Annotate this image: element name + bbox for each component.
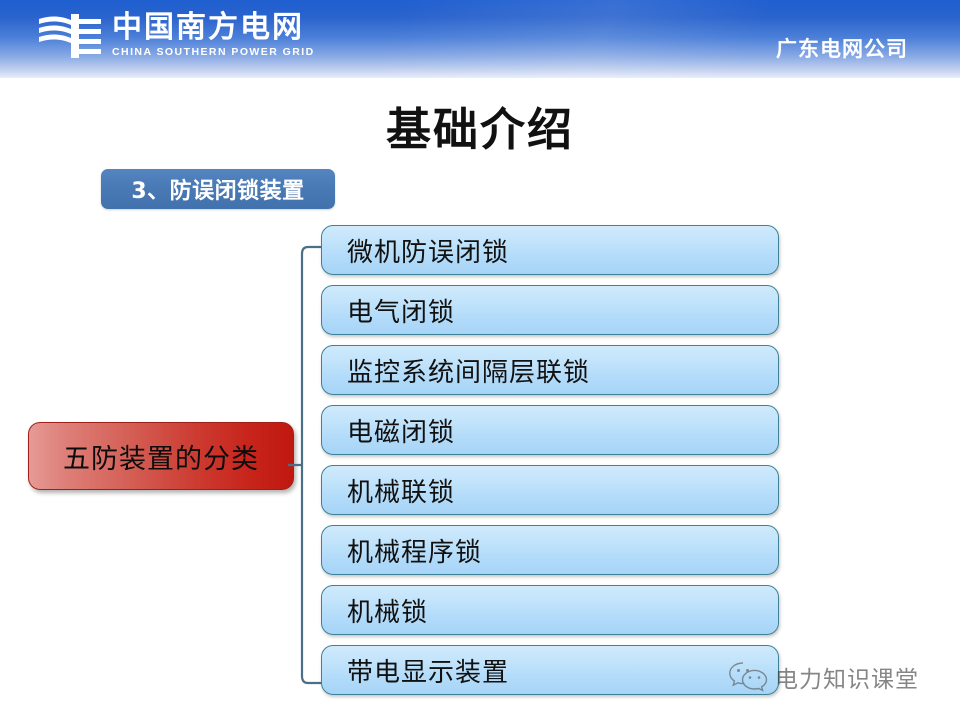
diagram-item-label: 电磁闭锁 <box>347 412 455 449</box>
diagram-item[interactable]: 带电显示装置 <box>321 645 779 695</box>
section-badge-label: 3、防误闭锁装置 <box>131 173 304 205</box>
southern-power-grid-logo-icon <box>37 12 103 60</box>
wechat-watermark: 电力知识课堂 <box>728 660 919 694</box>
diagram-item-list: 微机防误闭锁 电气闭锁 监控系统间隔层联锁 电磁闭锁 机械联锁 机械程序锁 机械… <box>321 225 779 705</box>
diagram-item[interactable]: 电磁闭锁 <box>321 405 779 455</box>
diagram-item-label: 机械联锁 <box>347 472 455 509</box>
diagram-item-label: 机械锁 <box>347 592 428 629</box>
diagram-item[interactable]: 监控系统间隔层联锁 <box>321 345 779 395</box>
diagram-item[interactable]: 电气闭锁 <box>321 285 779 335</box>
diagram-item[interactable]: 机械锁 <box>321 585 779 635</box>
diagram-root-node: 五防装置的分类 <box>28 422 294 490</box>
brand-name-en: CHINA SOUTHERN POWER GRID <box>112 45 315 59</box>
diagram-item-label: 微机防误闭锁 <box>347 232 509 269</box>
diagram-item-label: 监控系统间隔层联锁 <box>347 352 590 389</box>
company-name: 广东电网公司 <box>776 33 908 63</box>
brand-logo: 中国南方电网 CHINA SOUTHERN POWER GRID <box>37 12 315 60</box>
brand-logo-text: 中国南方电网 CHINA SOUTHERN POWER GRID <box>112 12 315 59</box>
diagram-item-label: 机械程序锁 <box>347 532 482 569</box>
diagram-item-label: 电气闭锁 <box>347 292 455 329</box>
diagram-item[interactable]: 机械程序锁 <box>321 525 779 575</box>
watermark-label: 电力知识课堂 <box>775 660 919 694</box>
wechat-icon <box>728 660 768 694</box>
brand-name-cn: 中国南方电网 <box>112 12 315 44</box>
section-badge: 3、防误闭锁装置 <box>101 169 335 209</box>
slide-header: 中国南方电网 CHINA SOUTHERN POWER GRID 广东电网公司 <box>0 0 960 78</box>
diagram-item[interactable]: 微机防误闭锁 <box>321 225 779 275</box>
slide-title: 基础介绍 <box>0 93 960 158</box>
diagram-root-label: 五防装置的分类 <box>63 437 259 476</box>
diagram-item-label: 带电显示装置 <box>347 652 509 689</box>
diagram-item[interactable]: 机械联锁 <box>321 465 779 515</box>
